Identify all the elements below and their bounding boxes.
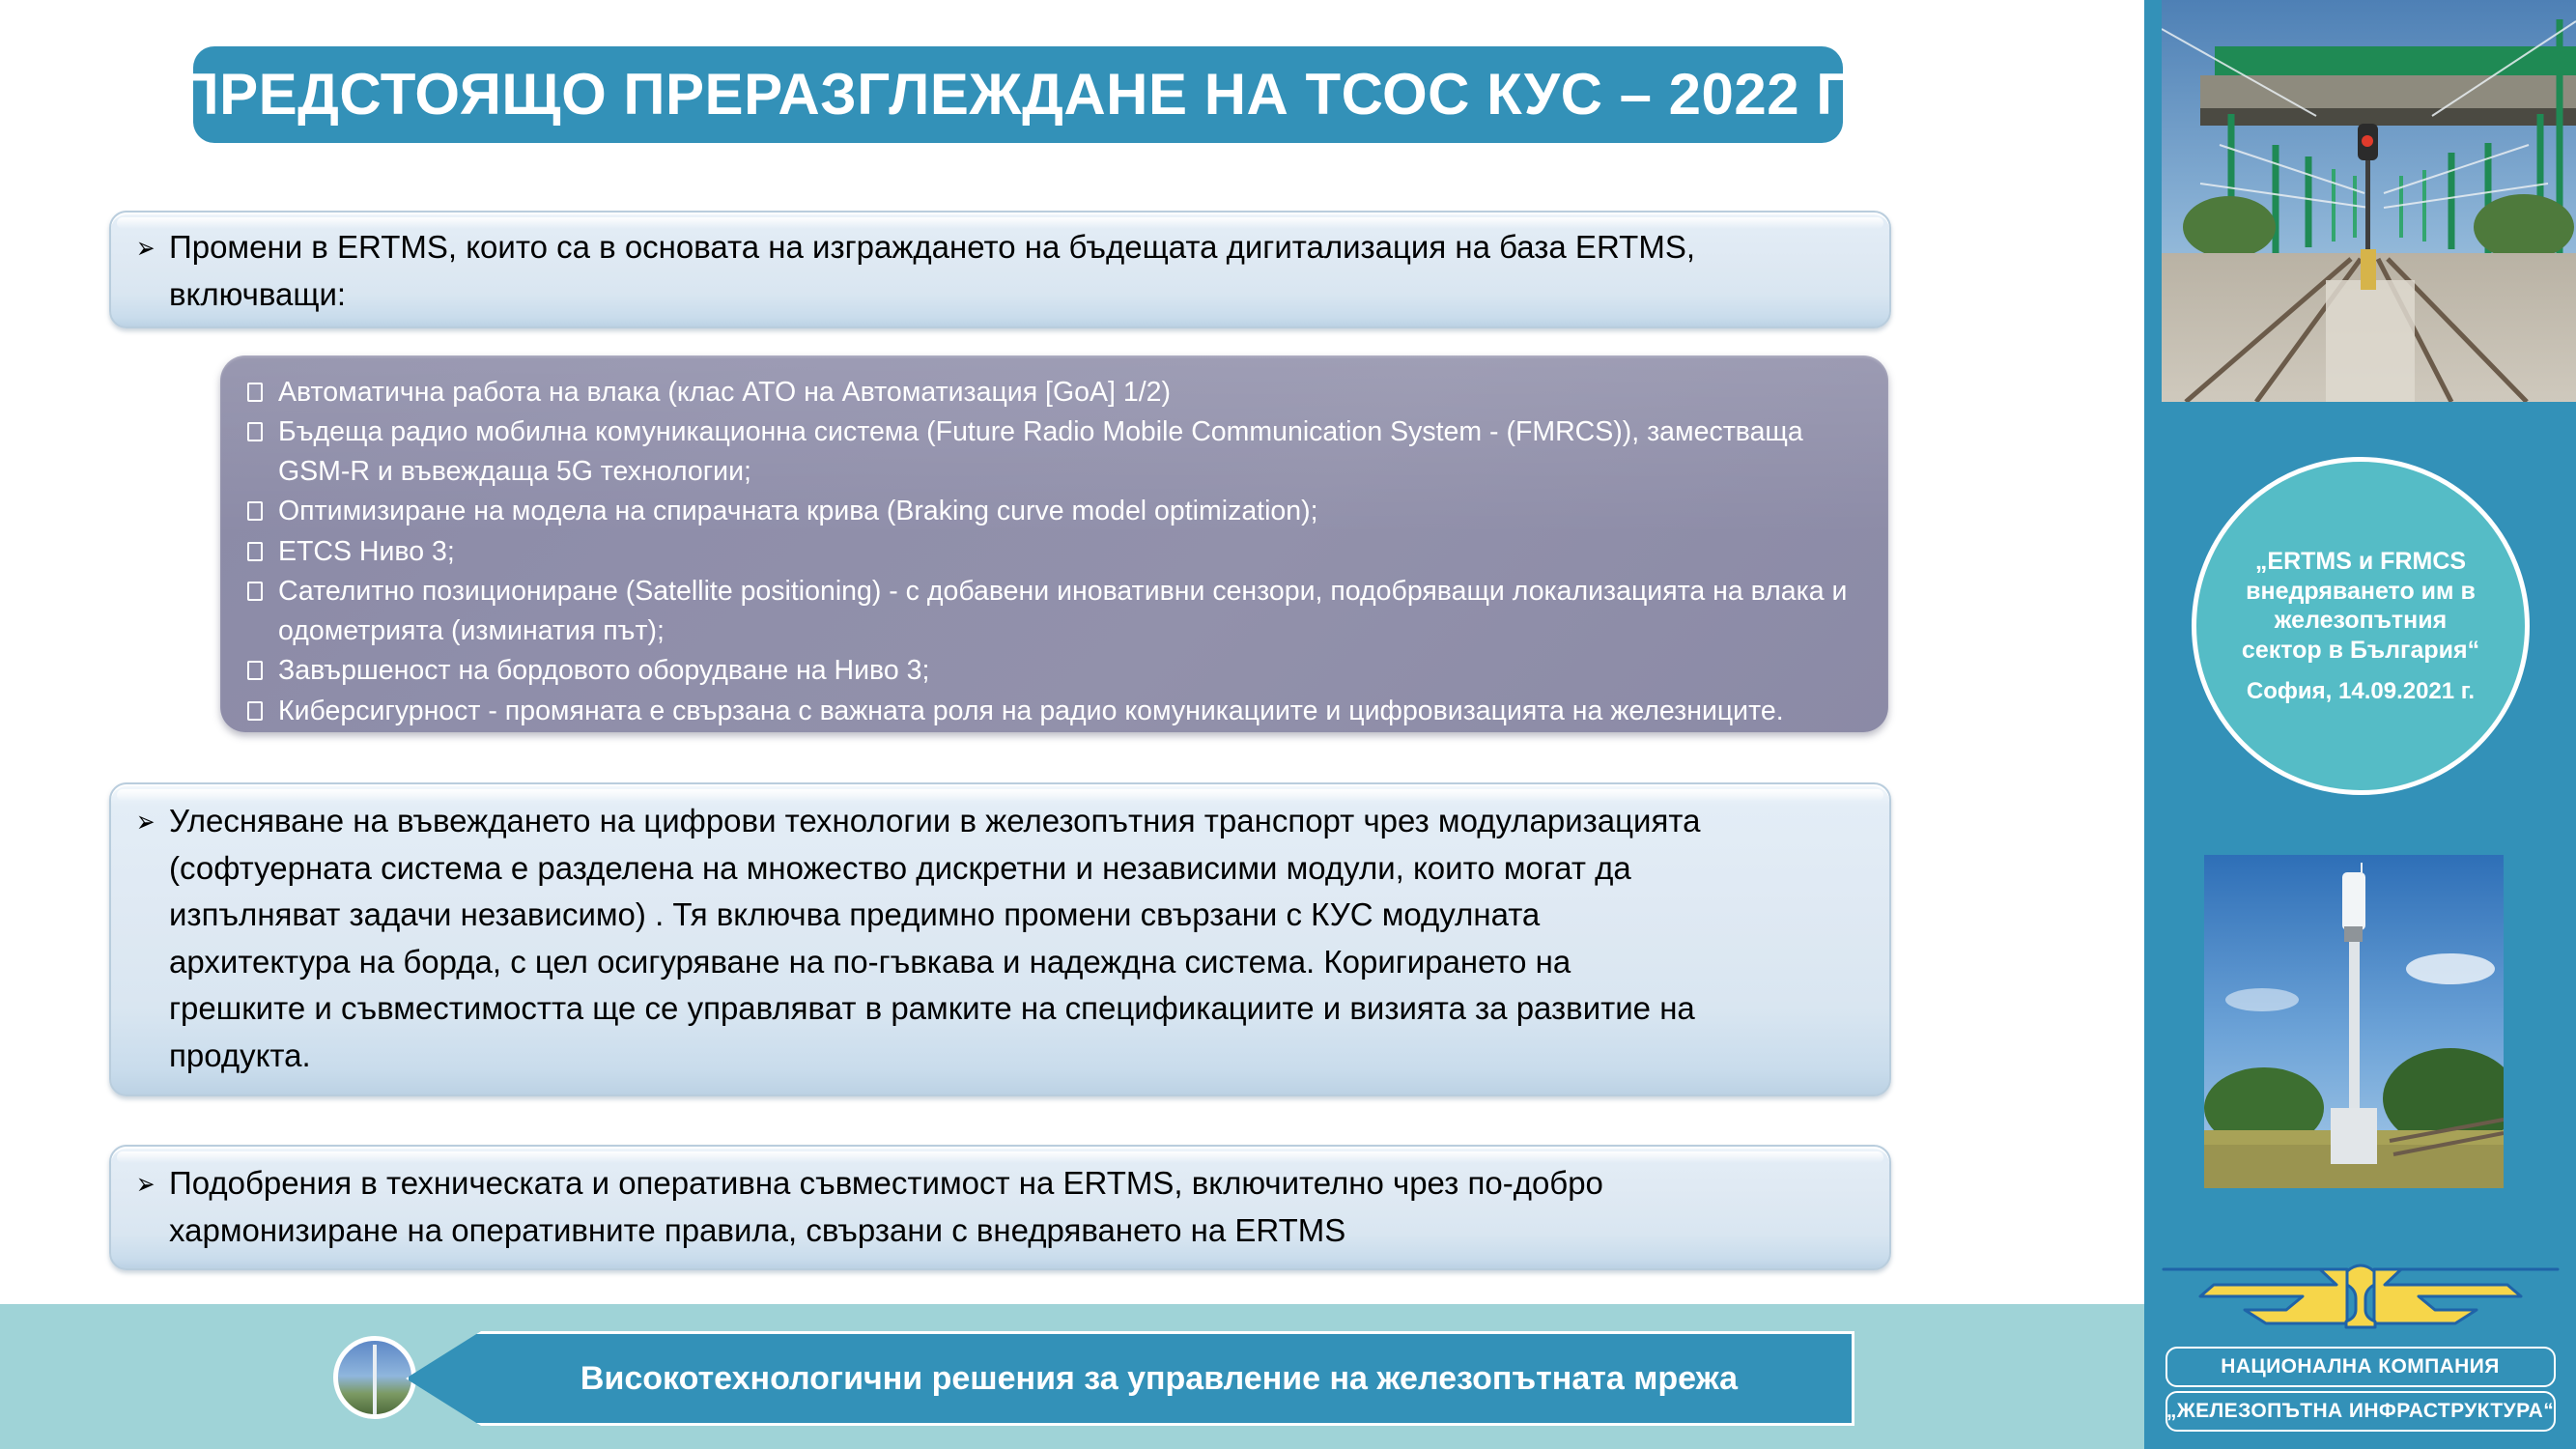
bullet-panel-3-content: ➢Подобрения в техническата и оперативна …	[111, 1147, 1889, 1264]
logo-line2-text: „ЖЕЛЕЗОПЪТНА ИНФРАСТРУКТУРА“	[2166, 1400, 2554, 1423]
checkbox-icon	[247, 542, 263, 561]
checklist-item-label: ETCS Ниво 3;	[278, 536, 455, 567]
railway-photo	[2162, 0, 2576, 402]
bullet-1-line-1: ➢Промени в ERTMS, които са в основата на…	[136, 224, 1856, 271]
logo-pill-line2: „ЖЕЛЕЗОПЪТНА ИНФРАСТРУКТУРА“	[2166, 1391, 2556, 1432]
bullet-panel-2: ➢Улесняване на въвеждането на цифрови те…	[109, 782, 1891, 1096]
bullet-2-line-2: (софтуерната система е разделена на множ…	[136, 845, 1856, 893]
bullet-3-line-1: ➢Подобрения в техническата и оперативна …	[136, 1160, 1856, 1207]
sidebar: „ERTMS и FRMCS внедряването им в железоп…	[2144, 0, 2576, 1449]
badge-title-line-4: сектор в България“	[2242, 636, 2479, 666]
event-badge: „ERTMS и FRMCS внедряването им в железоп…	[2192, 457, 2530, 795]
checklist: Автоматична работа на влака (клас ATO на…	[220, 355, 1888, 730]
checklist-panel: Автоматична работа на влака (клас ATO на…	[220, 355, 1888, 732]
logo-pill-line1: НАЦИОНАЛНА КОМПАНИЯ	[2166, 1347, 2556, 1387]
bullet-2-line-4: архитектура на борда, с цел осигуряване …	[136, 939, 1856, 986]
telecom-mast-illustration	[2204, 855, 2504, 1188]
badge-title-line-1: „ERTMS и FRMCS	[2242, 547, 2479, 577]
checklist-item: Сателитно позициониране (Satellite posit…	[241, 572, 1863, 650]
page-title: ПРЕДСТОЯЩО ПРЕРАЗГЛЕЖДАНЕ НА ТСОС КУС – …	[178, 66, 1859, 124]
telecom-mast-photo	[2204, 855, 2504, 1188]
slide-title-bar: ПРЕДСТОЯЩО ПРЕРАЗГЛЕЖДАНЕ НА ТСОС КУС – …	[193, 46, 1843, 143]
checklist-item-label: Автоматична работа на влака (клас ATO на…	[278, 377, 1171, 408]
bullet-2-line-1-text: Улесняване на въвеждането на цифрови тех…	[169, 803, 1700, 838]
checklist-item: Оптимизиране на модела на спирачната кри…	[241, 492, 1863, 530]
chevron-right-icon: ➢	[136, 1162, 161, 1207]
logo-line1-text: НАЦИОНАЛНА КОМПАНИЯ	[2221, 1355, 2499, 1378]
chevron-right-icon: ➢	[136, 226, 161, 270]
checklist-item-label: Сателитно позициониране (Satellite posit…	[278, 576, 1847, 645]
checkbox-icon	[247, 383, 263, 402]
bullet-2-line-5: грешките и съвместимостта ще се управляв…	[136, 985, 1856, 1033]
badge-title-line-3: железопътния	[2242, 606, 2479, 636]
checklist-item-label: Завършеност на бордовото оборудване на Н…	[278, 655, 929, 686]
footer-banner: Високотехнологични решения за управление…	[406, 1331, 1854, 1426]
checkbox-icon	[247, 701, 263, 721]
checkbox-icon	[247, 582, 263, 601]
bullet-panel-3: ➢Подобрения в техническата и оперативна …	[109, 1145, 1891, 1270]
winged-rail-emblem-icon	[2158, 1256, 2563, 1343]
bullet-2-line-1: ➢Улесняване на въвеждането на цифрови те…	[136, 798, 1856, 845]
checkbox-icon	[247, 501, 263, 521]
checklist-item-label: Киберсигурност - промяната е свързана с …	[278, 696, 1784, 726]
bullet-1-line-1-text: Промени в ERTMS, които са в основата на …	[169, 229, 1695, 265]
checklist-item-label: Бъдеща радио мобилна комуникационна сист…	[278, 416, 1803, 486]
bullet-panel-2-content: ➢Улесняване на въвеждането на цифрови те…	[111, 784, 1889, 1089]
checkbox-icon	[247, 661, 263, 680]
badge-title-line-2: внедряването им в	[2242, 577, 2479, 607]
bullet-3-line-1-text: Подобрения в техническата и оперативна с…	[169, 1165, 1603, 1201]
bullet-panel-1: ➢Промени в ERTMS, които са в основата на…	[109, 211, 1891, 328]
checklist-item: ETCS Ниво 3;	[241, 532, 1863, 571]
badge-title: „ERTMS и FRMCS внедряването им в железоп…	[2242, 547, 2479, 665]
checklist-item: Завършеност на бордовото оборудване на Н…	[241, 651, 1863, 690]
bullet-2-line-3: изпълняват задачи независимо) . Тя включ…	[136, 892, 1856, 939]
checklist-item: Автоматична работа на влака (клас ATO на…	[241, 373, 1863, 412]
chevron-right-icon: ➢	[136, 800, 161, 844]
mast-pole-shape	[373, 1345, 377, 1416]
slide-root: ПРЕДСТОЯЩО ПРЕРАЗГЛЕЖДАНЕ НА ТСОС КУС – …	[0, 0, 2576, 1449]
checkbox-icon	[247, 422, 263, 441]
badge-wrap: „ERTMS и FRMCS внедряването им в железоп…	[2192, 457, 2530, 747]
bullet-2-line-6: продукта.	[136, 1033, 1856, 1080]
footer-banner-label: Високотехнологични решения за управление…	[406, 1331, 1854, 1426]
bullet-3-line-2: хармонизиране на оперативните правила, с…	[136, 1207, 1856, 1255]
company-logo: НАЦИОНАЛНА КОМПАНИЯ „ЖЕЛЕЗОПЪТНА ИНФРАСТ…	[2144, 1256, 2576, 1432]
bullet-1-line-2: включващи:	[136, 271, 1856, 319]
checklist-item: Киберсигурност - промяната е свързана с …	[241, 692, 1863, 730]
railway-photo-illustration	[2162, 0, 2576, 402]
footer-thumbnail-icon	[333, 1336, 416, 1419]
badge-subtitle: София, 14.09.2021 г.	[2247, 678, 2475, 705]
checklist-item-label: Оптимизиране на модела на спирачната кри…	[278, 496, 1318, 526]
bullet-panel-1-content: ➢Промени в ERTMS, които са в основата на…	[111, 213, 1889, 327]
checklist-item: Бъдеща радио мобилна комуникационна сист…	[241, 412, 1863, 491]
